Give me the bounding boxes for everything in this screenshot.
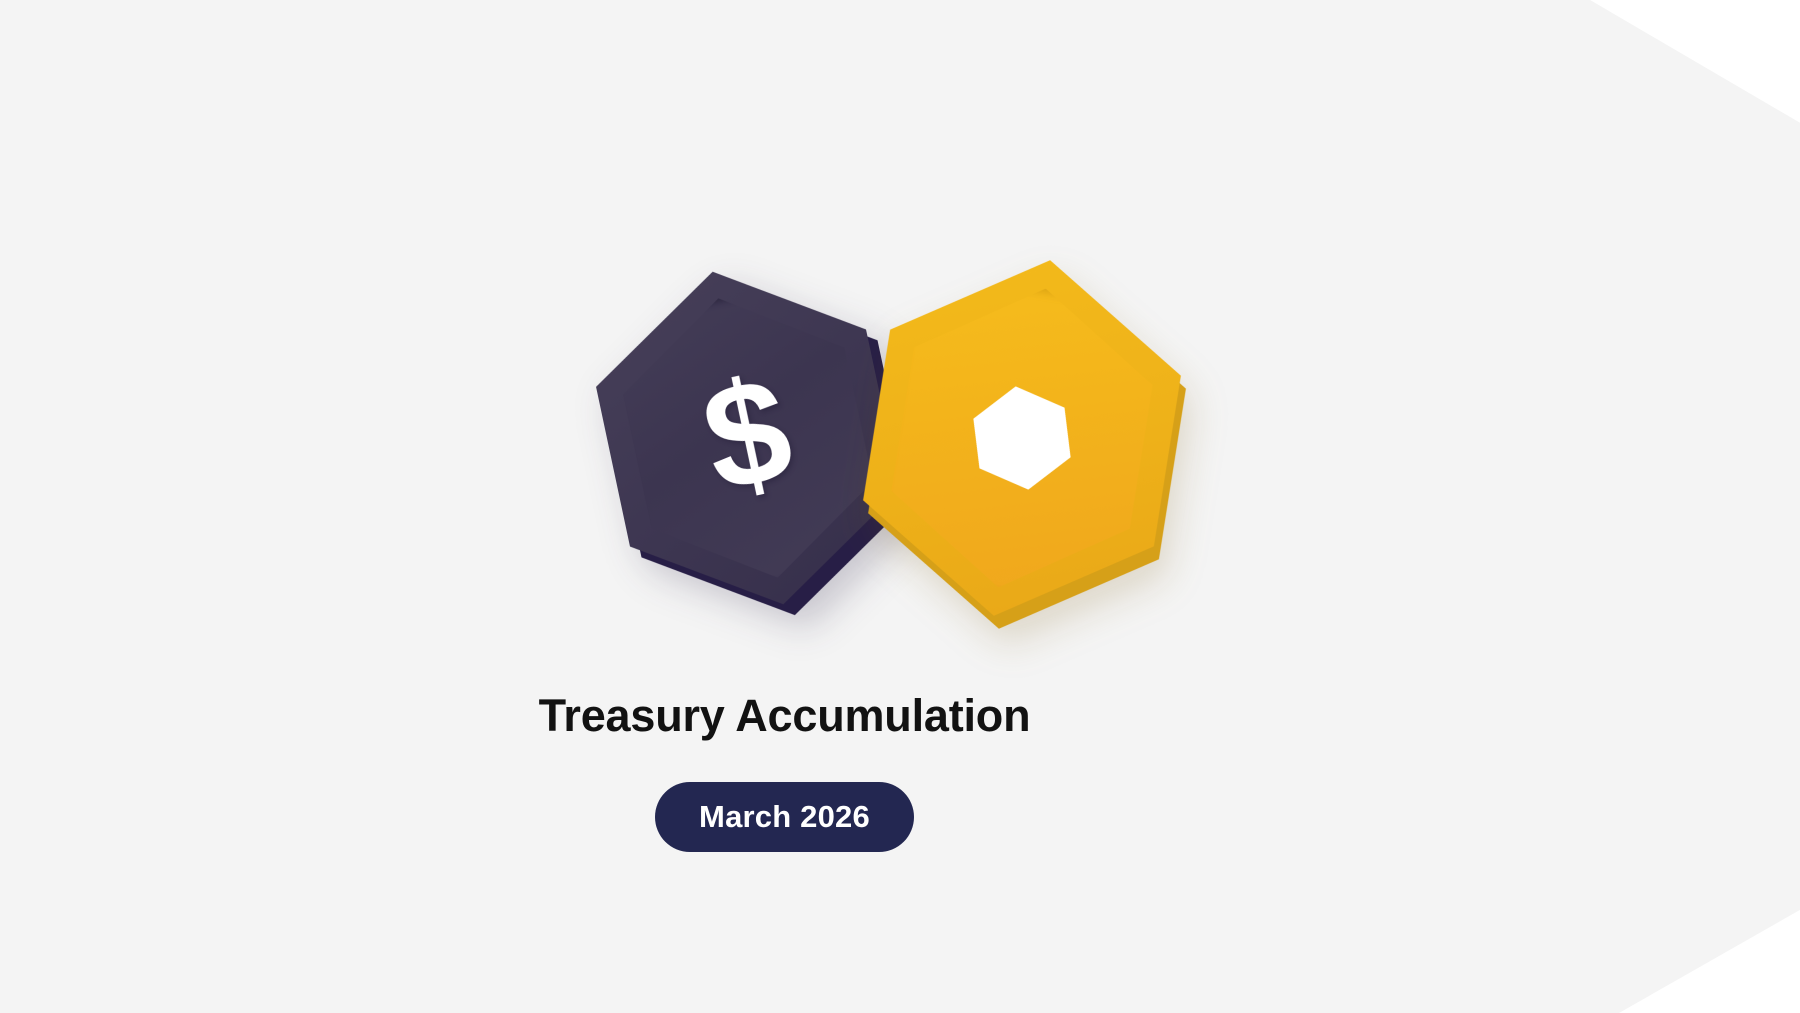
brand-lockup: $ Treasury Accumulation March 2026 [0,0,1800,1013]
page-title: Treasury Accumulation [0,690,1569,742]
hexagon-token-icon [836,235,1208,641]
slide-canvas: $ Treasury Accumulation March 2026 [0,0,1800,1013]
badge-container: March 2026 [0,782,1569,852]
date-badge: March 2026 [655,782,914,852]
